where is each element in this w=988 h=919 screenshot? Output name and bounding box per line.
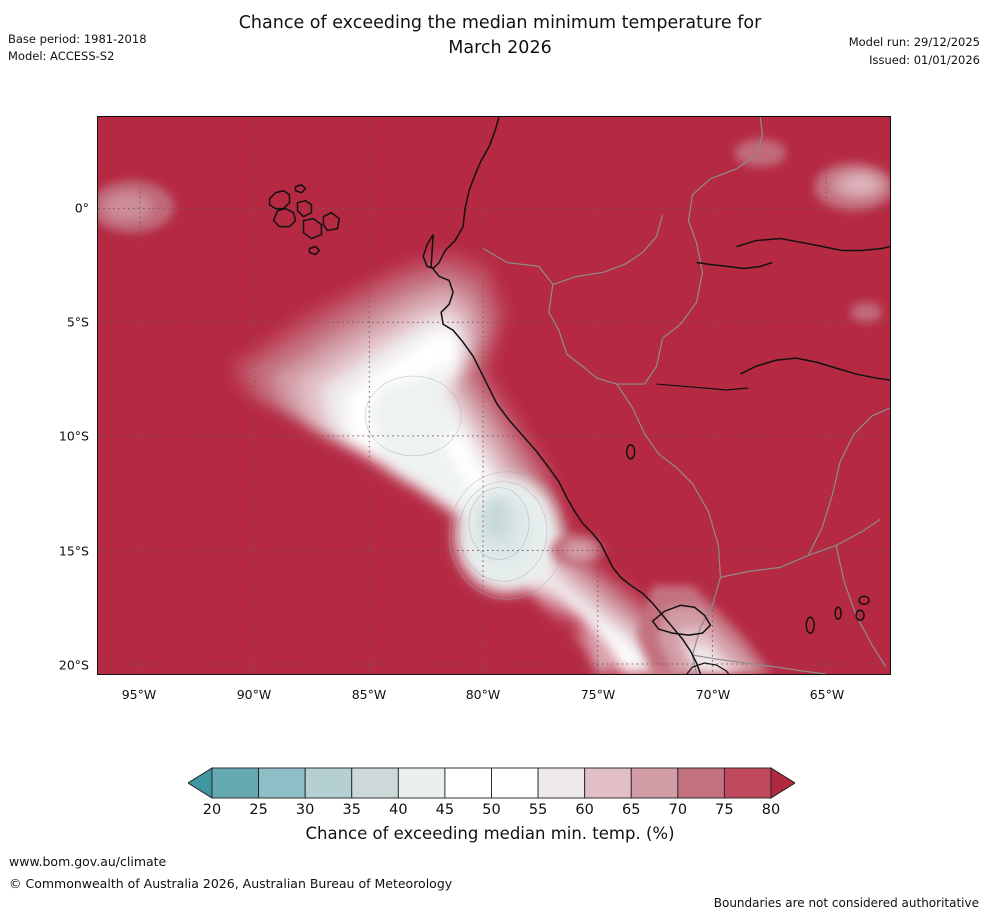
colorbar-cell	[212, 768, 259, 798]
colorbar-swatches	[188, 766, 795, 802]
run-info: Model run: 29/12/2025 Issued: 01/01/2026	[849, 33, 980, 69]
lat-tick-20: 20°S	[19, 658, 89, 673]
colorbar-cell	[305, 768, 352, 798]
colorbar-cell	[445, 768, 492, 798]
lon-tick-65: 65°W	[787, 687, 867, 702]
colorbar-cell	[352, 768, 399, 798]
colorbar-under-arrow	[188, 768, 212, 798]
lat-tick-0: 0°	[19, 201, 89, 216]
colorbar	[188, 766, 795, 802]
colorbar-cell	[398, 768, 445, 798]
colorbar-over-arrow	[771, 768, 795, 798]
colorbar-ticks: 20253035404550556065707580	[188, 802, 795, 822]
base-period-label: Base period: 1981-2018	[8, 31, 147, 48]
footer: www.bom.gov.au/climate © Commonwealth of…	[9, 851, 452, 895]
colorbar-cell	[585, 768, 632, 798]
lon-tick-90: 90°W	[214, 687, 294, 702]
lon-tick-95: 95°W	[99, 687, 179, 702]
title-line-1: Chance of exceeding the median minimum t…	[180, 11, 820, 36]
model-label: Model: ACCESS-S2	[8, 48, 147, 65]
issued-label: Issued: 01/01/2026	[849, 51, 980, 69]
lat-tick-15: 15°S	[19, 544, 89, 559]
colorbar-cell	[724, 768, 771, 798]
lat-tick-5: 5°S	[19, 315, 89, 330]
model-run-label: Model run: 29/12/2025	[849, 33, 980, 51]
lon-tick-80: 80°W	[443, 687, 523, 702]
website-link[interactable]: www.bom.gov.au/climate	[9, 851, 452, 873]
colorbar-cell	[538, 768, 585, 798]
copyright-text: © Commonwealth of Australia 2026, Austra…	[9, 873, 452, 895]
latitude-axis: 0° 5°S 10°S 15°S 20°S	[17, 116, 89, 675]
colorbar-cell	[678, 768, 725, 798]
longitude-axis: 95°W 90°W 85°W 80°W 75°W 70°W 65°W	[97, 687, 891, 707]
base-period-info: Base period: 1981-2018 Model: ACCESS-S2	[8, 31, 147, 65]
page-title: Chance of exceeding the median minimum t…	[180, 11, 820, 61]
forecast-map	[97, 116, 891, 675]
colorbar-tick-80: 80	[741, 802, 801, 818]
lon-tick-85: 85°W	[329, 687, 409, 702]
colorbar-cell	[259, 768, 306, 798]
title-line-2: March 2026	[180, 36, 820, 61]
lon-tick-70: 70°W	[673, 687, 753, 702]
boundaries-disclaimer: Boundaries are not considered authoritat…	[714, 896, 979, 910]
colorbar-cell	[492, 768, 539, 798]
lat-tick-10: 10°S	[19, 429, 89, 444]
colorbar-cell	[631, 768, 678, 798]
map-canvas	[98, 117, 890, 674]
colorbar-label: Chance of exceeding median min. temp. (%…	[180, 824, 800, 843]
lon-tick-75: 75°W	[558, 687, 638, 702]
